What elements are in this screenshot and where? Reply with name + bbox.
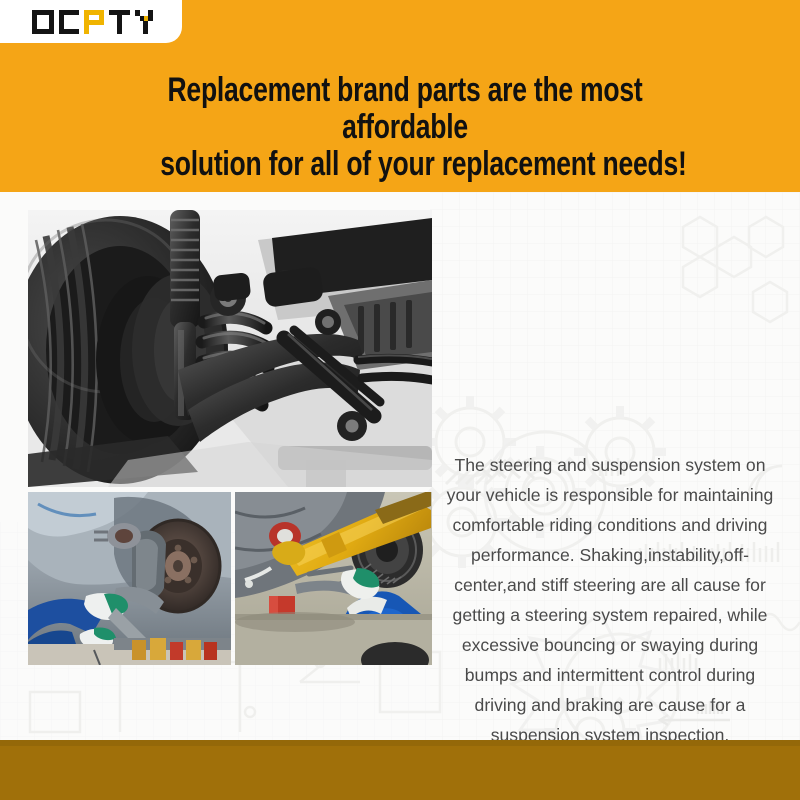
brand-logo-badge	[0, 0, 182, 43]
footer-gold-band	[0, 740, 800, 800]
headline-line-2: solution for all of your replacement nee…	[120, 146, 689, 183]
logo-letter-c	[59, 10, 79, 34]
logo-letter-p	[84, 10, 104, 34]
body-paragraph-1: The steering and suspension system on yo…	[440, 450, 780, 740]
photo-mechanic-brake-service	[28, 492, 231, 665]
product-infographic-page: Replacement brand parts are the most aff…	[0, 0, 800, 800]
footer-top-sheen	[0, 740, 800, 746]
headline: Replacement brand parts are the most aff…	[120, 72, 689, 183]
logo-letter-y	[135, 10, 157, 34]
body-copy: The steering and suspension system on yo…	[440, 450, 780, 740]
headline-line-1: Replacement brand parts are the most aff…	[120, 72, 689, 146]
photo-suspension-assembly	[28, 210, 432, 487]
logo-letter-o	[32, 10, 54, 34]
logo-letter-t	[109, 10, 130, 34]
photo-mechanic-under-lift	[235, 492, 432, 665]
brand-logo-ocpty	[32, 10, 157, 34]
